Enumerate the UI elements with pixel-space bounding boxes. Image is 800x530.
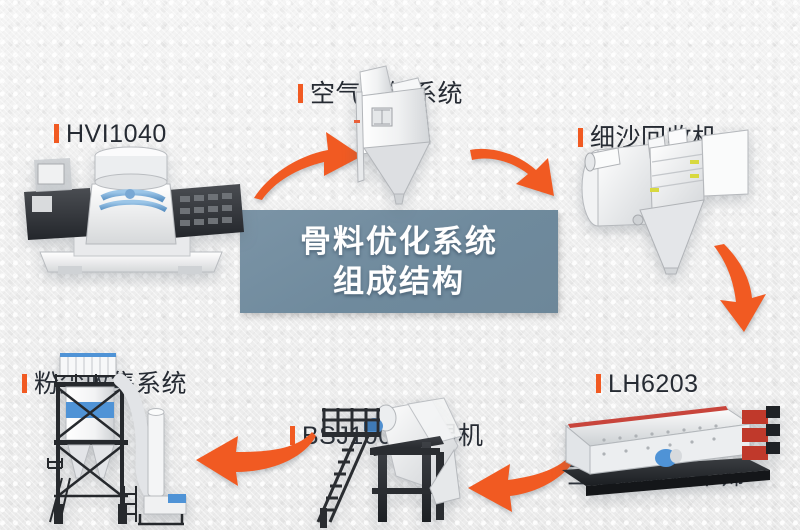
equipment-dust-collector	[32, 344, 192, 530]
equipment-wet-mixer	[312, 392, 484, 530]
diagram-canvas: HVI1040 制砂机 空气分级系统 细沙回收机 LH6203 三轴椭圆水平筛 …	[0, 0, 800, 530]
equipment-fine-sand-recycler	[562, 118, 754, 276]
equipment-sand-maker	[18, 140, 244, 275]
label-horizontal-screen-line1: LH6203	[596, 369, 746, 400]
arrow-5	[192, 430, 318, 490]
equipment-horizontal-screen	[556, 396, 786, 504]
center-title-box: 骨料优化系统 组成结构	[240, 210, 558, 313]
accent-bar-icon	[596, 374, 601, 394]
equipment-air-classifier	[332, 62, 460, 210]
center-title-text: 骨料优化系统 组成结构	[300, 222, 498, 301]
accent-bar-icon	[298, 84, 303, 104]
accent-bar-icon	[22, 374, 27, 394]
